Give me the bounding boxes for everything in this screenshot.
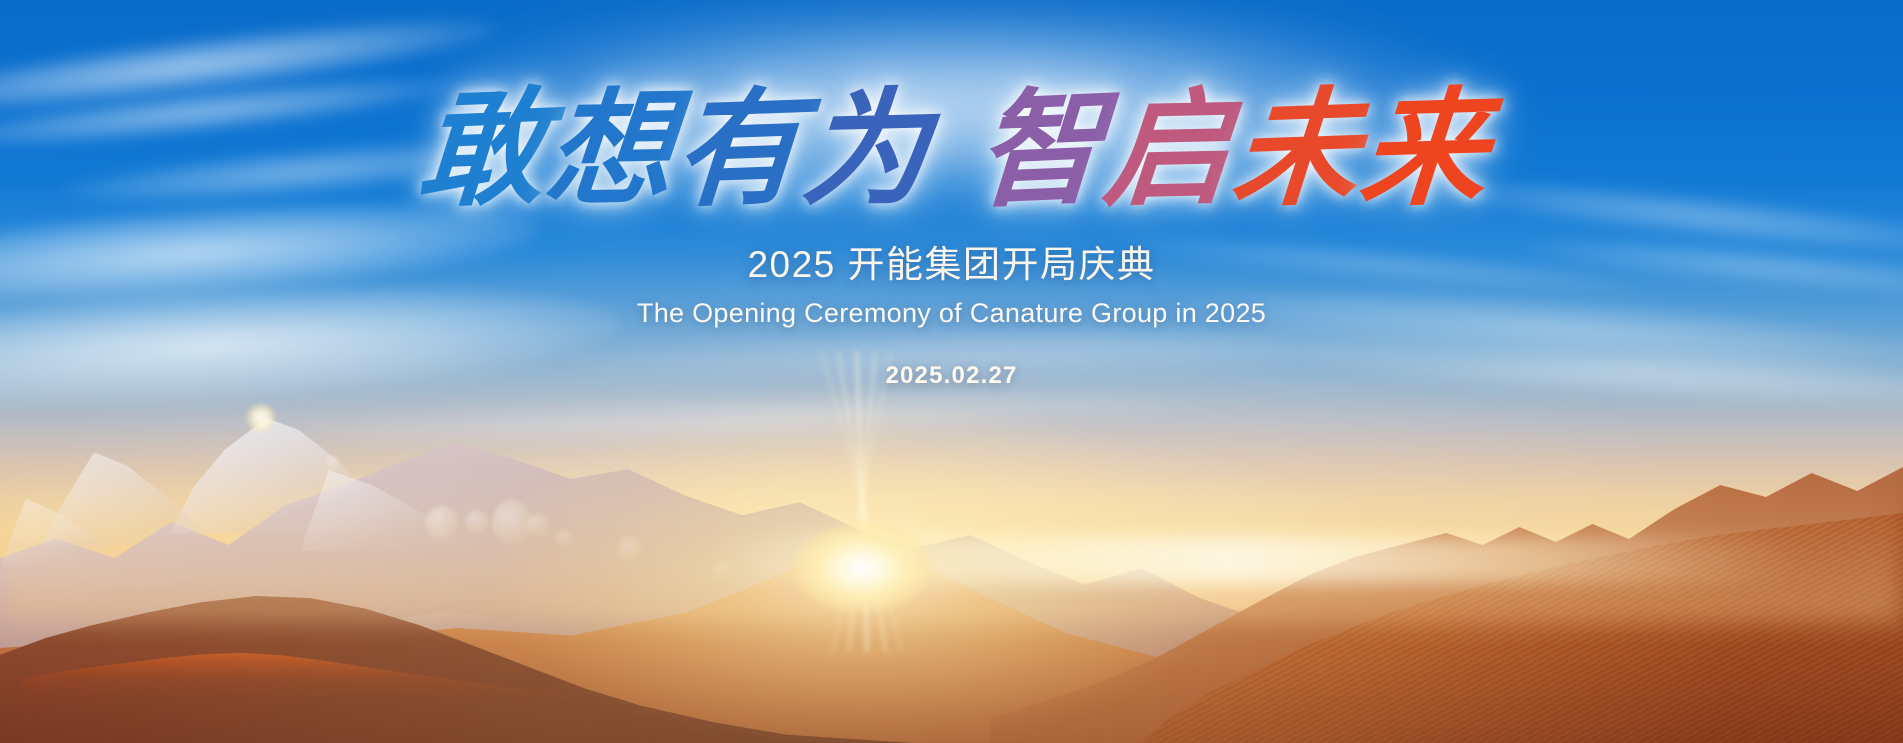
subtitle-chinese: 2025 开能集团开局庆典 — [747, 234, 1155, 288]
headline-char: 有 — [668, 84, 805, 214]
headline-char: 启 — [1097, 85, 1236, 214]
headline-phrase-1: 敢 想 有 为 — [417, 86, 929, 212]
headline-char: 智 — [970, 83, 1106, 214]
event-banner: 敢 想 有 为 智 启 未 来 2025 开能集团开局庆典 The Openin… — [0, 0, 1903, 743]
headline-char: 未 — [1226, 84, 1363, 214]
headline-text: 敢 想 有 为 智 启 未 来 — [417, 86, 1487, 212]
headline-phrase-2: 智 启 未 来 — [975, 86, 1487, 212]
headline-char: 想 — [539, 85, 678, 213]
headline-char: 来 — [1353, 84, 1491, 214]
headline-char: 敢 — [412, 84, 549, 215]
headline-char: 为 — [795, 84, 933, 213]
subtitle-english: The Opening Ceremony of Canature Group i… — [637, 298, 1266, 329]
sun-icon — [792, 523, 932, 613]
event-date: 2025.02.27 — [885, 362, 1017, 390]
